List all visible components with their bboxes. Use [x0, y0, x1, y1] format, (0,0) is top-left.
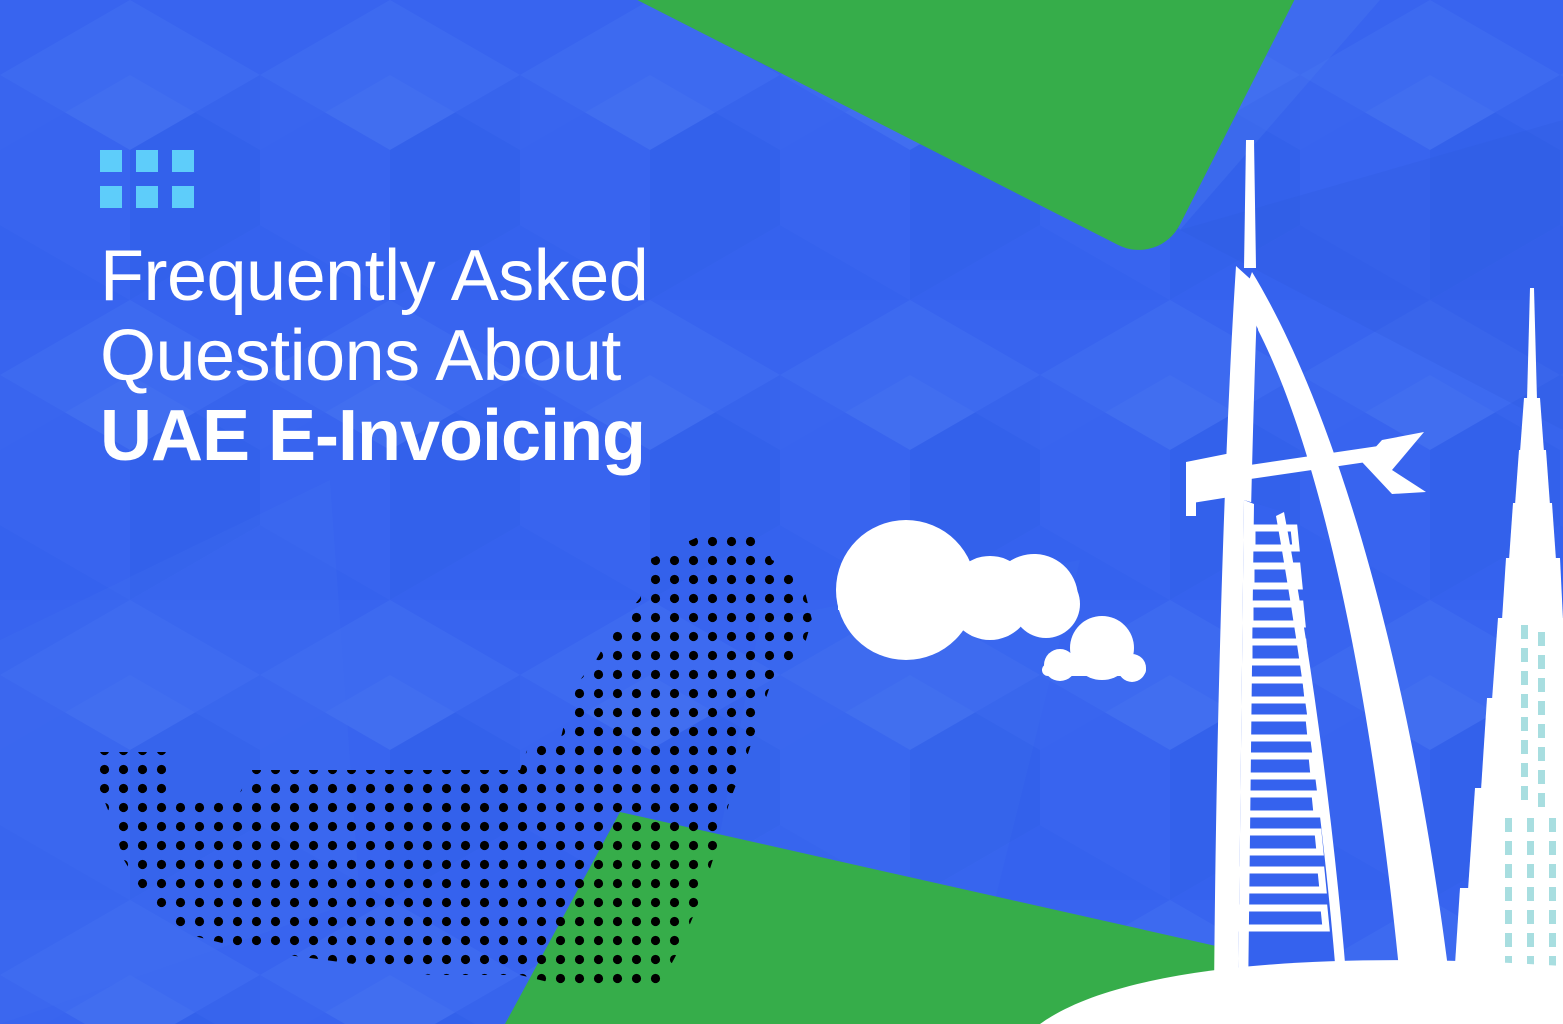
- dot-grid-cell: [136, 186, 158, 208]
- dot-grid-accent: [100, 150, 194, 208]
- page-title: Frequently Asked Questions About UAE E-I…: [100, 236, 820, 476]
- dot-grid-cell: [172, 150, 194, 172]
- title-line-1: Frequently Asked: [100, 236, 820, 316]
- dot-grid-cell: [100, 150, 122, 172]
- dot-grid-cell: [136, 150, 158, 172]
- dot-grid-cell: [100, 186, 122, 208]
- title-line-3-highlight: UAE E-Invoicing: [100, 396, 820, 476]
- title-line-2: Questions About: [100, 316, 820, 396]
- white-island-base: [0, 0, 1563, 1024]
- hero-banner: Frequently Asked Questions About UAE E-I…: [0, 0, 1563, 1024]
- dot-grid-cell: [172, 186, 194, 208]
